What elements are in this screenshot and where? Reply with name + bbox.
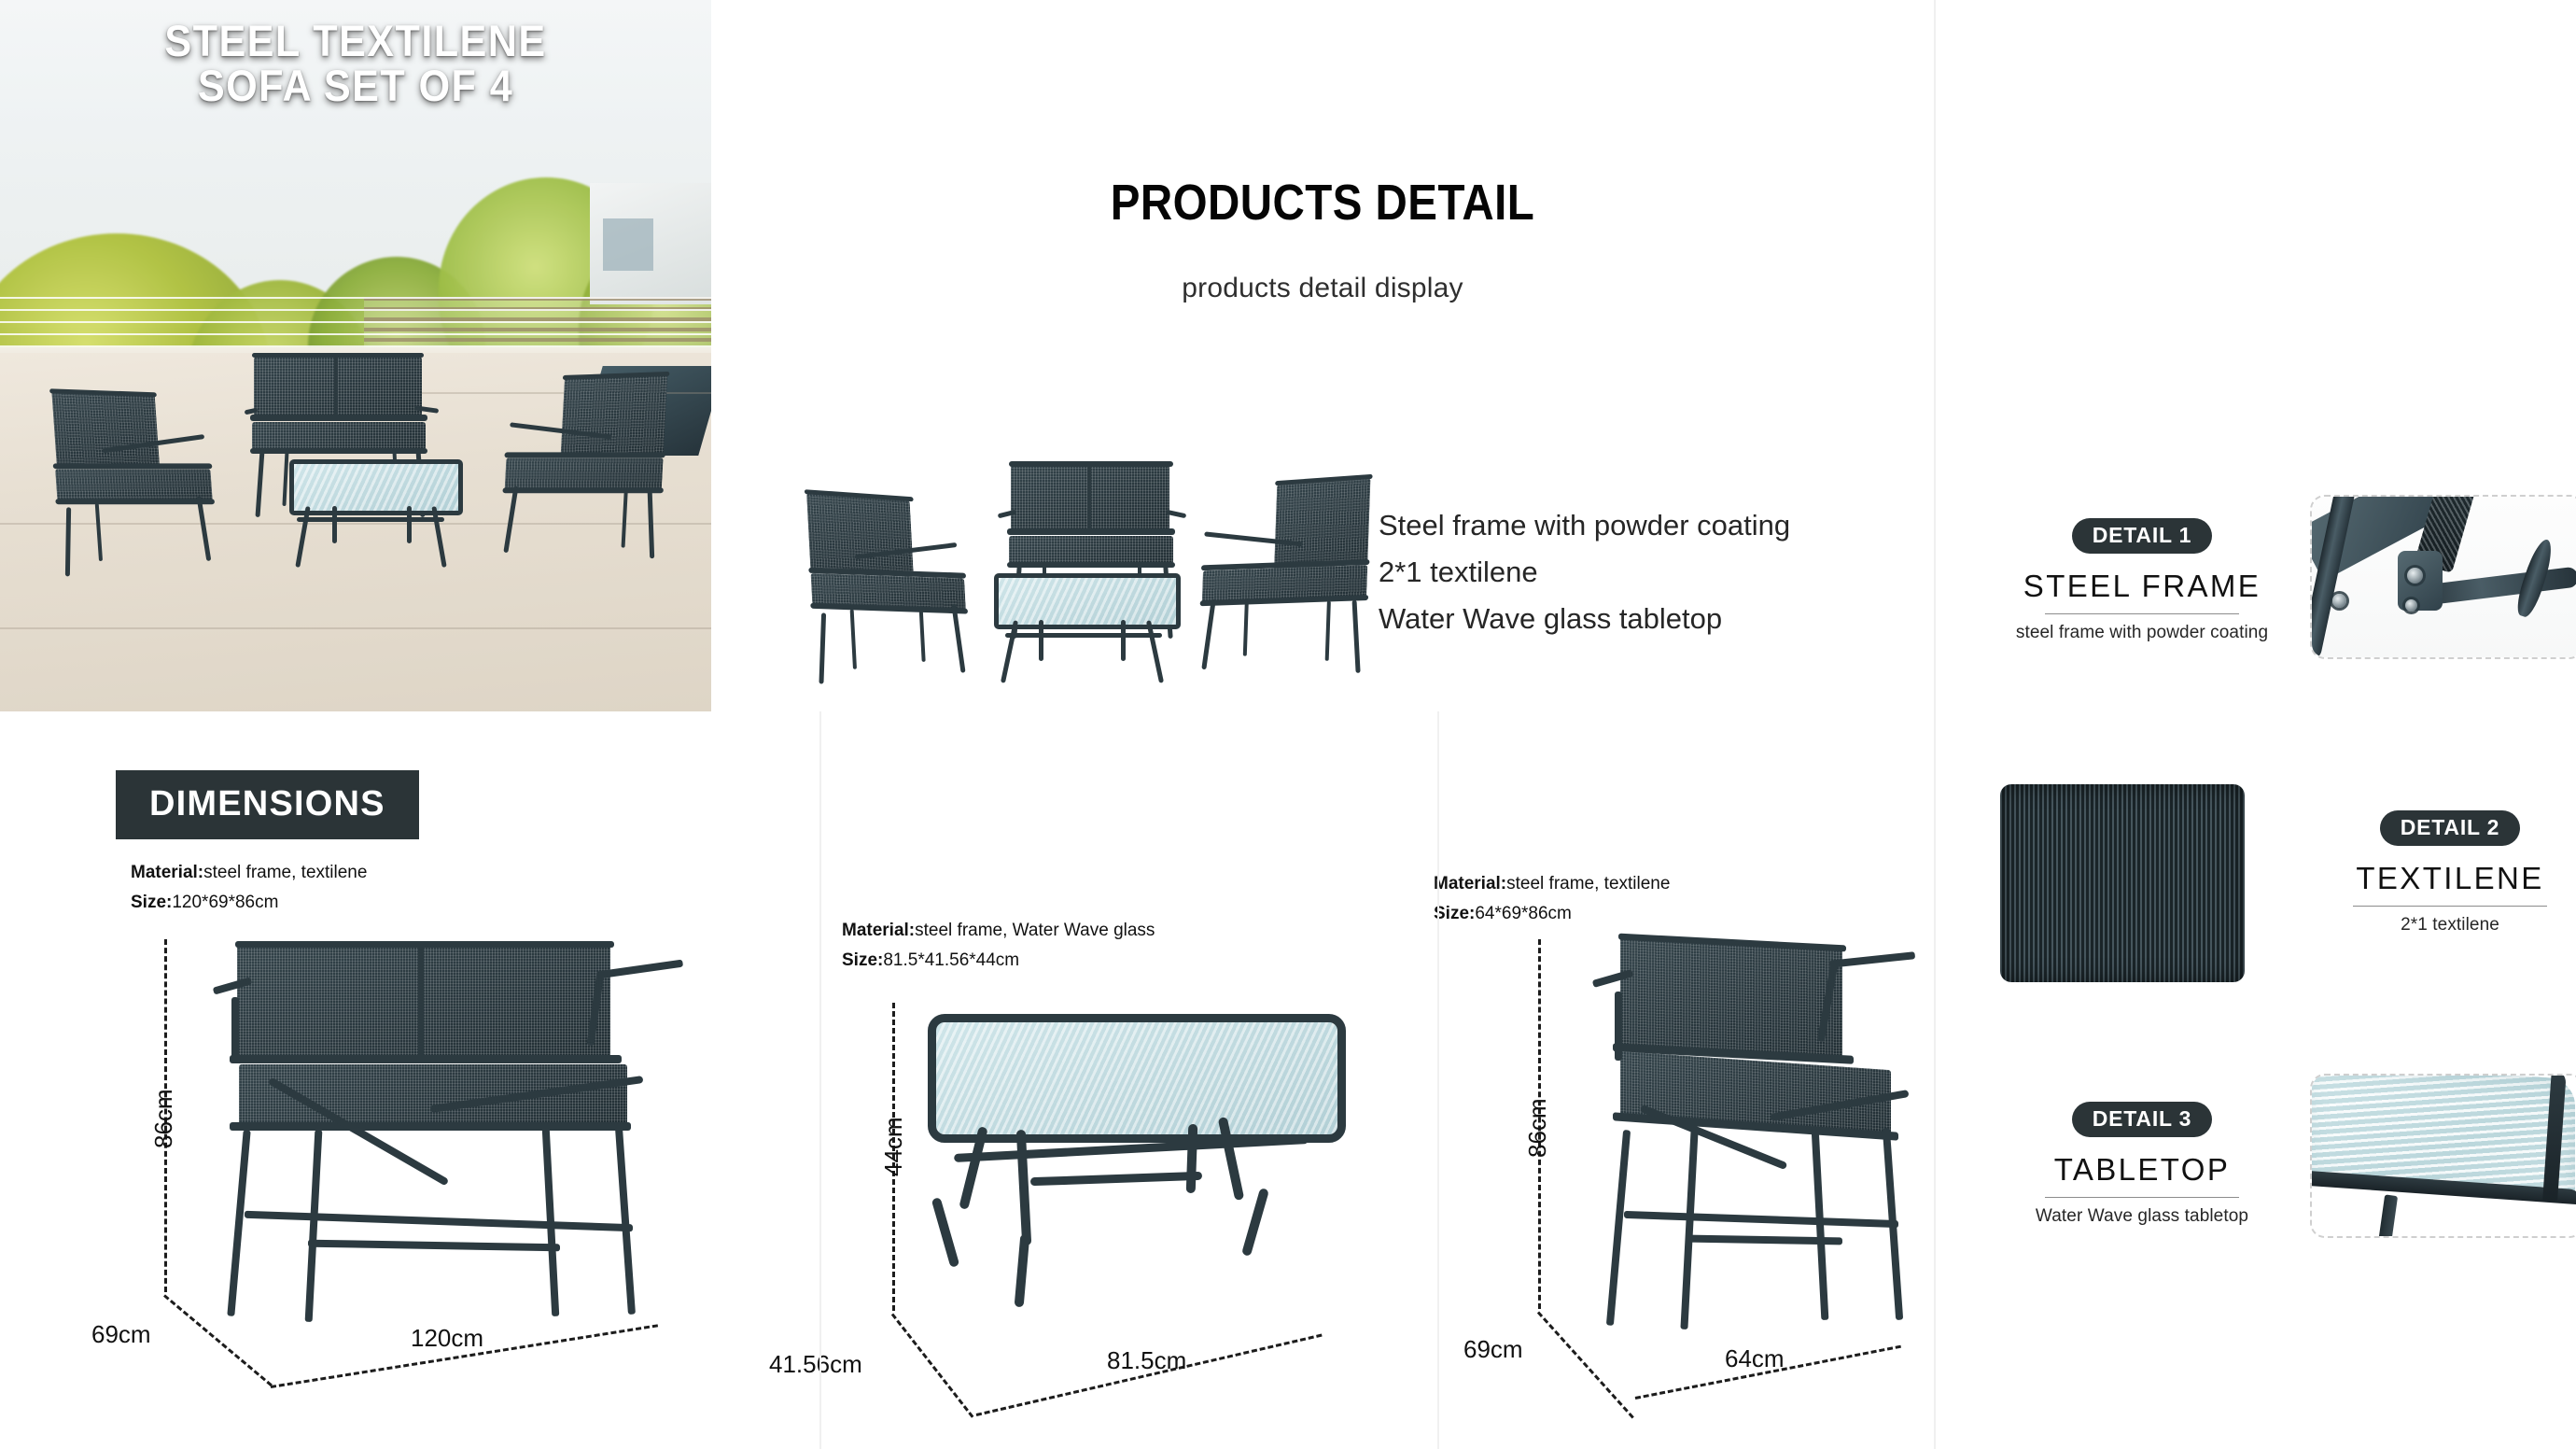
detail-2-caption: 2*1 textilene (2310, 915, 2576, 936)
hero-title-line-1: STEEL TEXTILENE (50, 19, 660, 63)
chair-material-spec: Material:steel frame, textilene (1434, 870, 1670, 899)
chair-technical-illustration (1577, 943, 1969, 1344)
detail-1-badge: DETAIL 1 (2072, 518, 2213, 554)
hero-title: STEEL TEXTILENE SOFA SET OF 4 (28, 19, 682, 108)
table-size-value: 81.5*41.56*44cm (883, 950, 1019, 970)
sofa-material-label: Material: (131, 863, 203, 882)
sofa-technical-illustration (196, 945, 719, 1337)
detail-3-text: DETAIL 3 TABLETOP Water Wave glass table… (2002, 1102, 2282, 1227)
sofa-width-label: 120cm (411, 1324, 483, 1353)
chair-depth-label: 69cm (1463, 1335, 1523, 1364)
table-width-label: 81.5cm (1107, 1346, 1186, 1375)
product-group-image (798, 448, 1377, 691)
sofa-dimension-drawing: 86cm 69cm 120cm (121, 934, 812, 1438)
table-height-label: 44cm (879, 1117, 908, 1176)
detail-1-title: STEEL FRAME (2002, 569, 2282, 604)
sofa-size-spec: Size:120*69*86cm (131, 889, 278, 918)
sofa-depth-label: 69cm (91, 1320, 151, 1349)
table-material-label: Material: (842, 921, 915, 940)
detail-1-divider (2045, 613, 2239, 614)
table-technical-illustration (918, 1014, 1357, 1322)
chair-size-label: Size: (1434, 904, 1475, 923)
sofa-material-spec: Material:steel frame, textilene (131, 859, 367, 888)
water-wave-glass-tabletop-photo (2312, 1076, 2576, 1236)
detail-column: DETAIL 1 STEEL FRAME steel frame with po… (1946, 467, 2576, 1307)
hero-title-line-2: SOFA SET OF 4 (50, 63, 660, 108)
table-material-spec: Material:steel frame, Water Wave glass (842, 917, 1155, 946)
header-block: PRODUCTS DETAIL products detail display (711, 0, 1934, 431)
sofa-size-label: Size: (131, 893, 172, 912)
table-material-value: steel frame, Water Wave glass (915, 921, 1155, 940)
chair-material-label: Material: (1434, 874, 1506, 893)
detail-3-badge: DETAIL 3 (2072, 1102, 2213, 1137)
page-subtitle: products detail display (711, 273, 1934, 304)
detail-1-caption: steel frame with powder coating (2002, 623, 2282, 643)
steel-frame-joint-photo (2312, 497, 2576, 657)
panel-divider (819, 711, 821, 1449)
table-depth-dimension-line (891, 1314, 974, 1418)
sofa-size-value: 120*69*86cm (172, 893, 278, 912)
detail-2-title: TEXTILENE (2310, 861, 2576, 896)
chair-material-value: steel frame, textilene (1506, 874, 1670, 893)
panel-divider (1934, 0, 1936, 1449)
detail-2-badge: DETAIL 2 (2380, 810, 2521, 846)
detail-1-photo (2310, 495, 2576, 659)
hero-deck-seam (0, 627, 711, 629)
detail-3-divider (2045, 1197, 2239, 1198)
group-table (981, 573, 1186, 695)
sofa-material-value: steel frame, textilene (203, 863, 367, 882)
sofa-height-label: 86cm (149, 1089, 178, 1148)
table-size-label: Size: (842, 950, 883, 970)
hero-lifestyle-image: STEEL TEXTILENE SOFA SET OF 4 (0, 0, 711, 711)
hero-chair-right (481, 369, 677, 565)
table-size-spec: Size:81.5*41.56*44cm (842, 947, 1019, 976)
chair-dimension-drawing: 86cm 69cm 64cm (1493, 934, 2016, 1438)
page-title: PRODUCTS DETAIL (785, 174, 1861, 232)
detail-2-text: DETAIL 2 TEXTILENE 2*1 textilene (2310, 810, 2576, 936)
product-detail-page: STEEL TEXTILENE SOFA SET OF 4 PRODUCTS D… (0, 0, 2576, 1449)
hero-building (590, 183, 711, 304)
hero-chair-left (43, 385, 232, 574)
feature-list: Steel frame with powder coating 2*1 text… (1379, 502, 1939, 643)
group-chair-right (1184, 470, 1378, 672)
detail-2-photo (2000, 784, 2245, 982)
detail-2-divider (2353, 906, 2547, 907)
panel-divider (1437, 711, 1439, 1449)
chair-size-spec: Size:64*69*86cm (1434, 900, 1572, 929)
detail-3-title: TABLETOP (2002, 1152, 2282, 1188)
table-depth-label: 41.56cm (769, 1350, 862, 1379)
chair-width-label: 64cm (1725, 1344, 1785, 1373)
chair-height-label: 86cm (1523, 1098, 1552, 1158)
feature-item: 2*1 textilene (1379, 549, 1939, 596)
chair-size-value: 64*69*86cm (1475, 904, 1572, 923)
group-chair-left (803, 481, 999, 677)
dimensions-heading: DIMENSIONS (116, 770, 419, 839)
hero-table (280, 459, 467, 581)
table-dimension-drawing: 44cm 41.56cm 81.5cm (840, 990, 1437, 1438)
feature-item: Steel frame with powder coating (1379, 502, 1939, 549)
detail-1-text: DETAIL 1 STEEL FRAME steel frame with po… (2002, 518, 2282, 643)
detail-3-caption: Water Wave glass tabletop (2002, 1206, 2282, 1227)
detail-3-photo (2310, 1074, 2576, 1238)
feature-item: Water Wave glass tabletop (1379, 596, 1939, 642)
